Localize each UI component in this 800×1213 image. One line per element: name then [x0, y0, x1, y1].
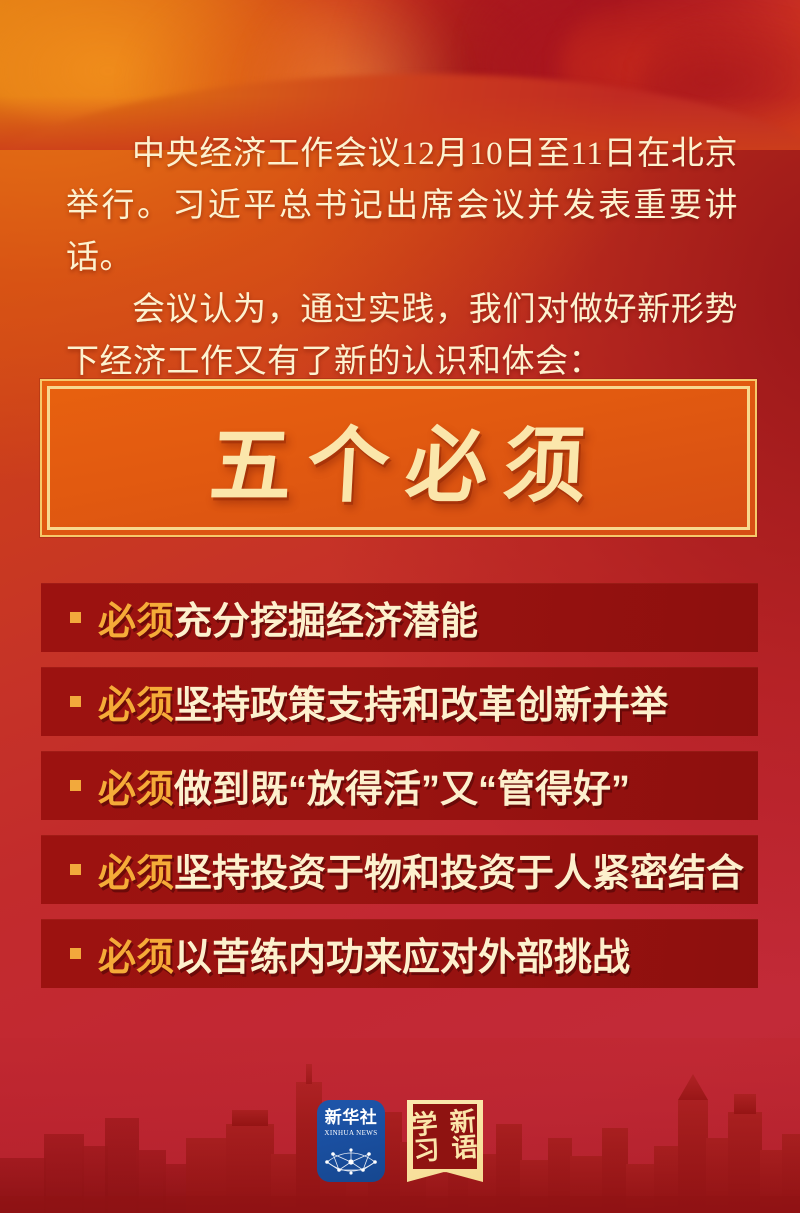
list-item-emphasis: 必须: [98, 601, 174, 643]
list-item-text: 必须充分挖掘经济潜能: [98, 590, 478, 645]
list-item[interactable]: 必须坚持投资于物和投资于人紧密结合: [41, 835, 758, 904]
poster-root: 中央经济工作会议12月10日至11日在北京举行。习近平总书记出席会议并发表重要讲…: [0, 0, 800, 1213]
xuexi-logo-label: 学习 新语: [404, 1097, 486, 1184]
xinhua-logo-en-label: XINHUA NEWS: [324, 1129, 377, 1137]
list-item-rest: 充分挖掘经济潜能: [174, 601, 478, 643]
square-bullet-icon: [70, 948, 81, 959]
list-item[interactable]: 必须做到既“放得活”又“管得好”: [41, 751, 758, 820]
list-item-rest: 坚持政策支持和改革创新并举: [174, 685, 668, 727]
title-plaque-inner-border: 五个必须: [47, 386, 750, 530]
list-item-text: 必须做到既“放得活”又“管得好”: [98, 758, 630, 813]
network-globe-icon: [323, 1146, 379, 1176]
square-bullet-icon: [70, 612, 81, 623]
list-item-emphasis: 必须: [98, 853, 174, 895]
xuexi-logo-line-1: 学习: [405, 1111, 447, 1166]
list-item-text: 必须以苦练内功来应对外部挑战: [98, 926, 630, 981]
intro-paragraph-1: 中央经济工作会议12月10日至11日在北京举行。习近平总书记出席会议并发表重要讲…: [66, 128, 738, 284]
list-item-emphasis: 必须: [98, 769, 174, 811]
xuexi-logo-line-2: 新语: [443, 1108, 485, 1163]
requirements-list: 必须充分挖掘经济潜能 必须坚持政策支持和改革创新并举 必须做到既“放得活”又“管…: [41, 583, 758, 988]
xinhua-logo-cn-label: 新华社: [325, 1108, 378, 1127]
list-item-rest: 以苦练内功来应对外部挑战: [174, 937, 630, 979]
square-bullet-icon: [70, 696, 81, 707]
square-bullet-icon: [70, 864, 81, 875]
list-item-text: 必须坚持投资于物和投资于人紧密结合: [98, 842, 744, 897]
title-plaque: 五个必须: [40, 379, 757, 537]
list-item[interactable]: 必须充分挖掘经济潜能: [41, 583, 758, 652]
list-item-rest: 做到既“放得活”又“管得好”: [174, 769, 630, 811]
intro-paragraph-2: 会议认为，通过实践，我们对做好新形势下经济工作又有了新的认识和体会：: [66, 284, 738, 388]
list-item-emphasis: 必须: [98, 685, 174, 727]
page-title: 五个必须: [191, 399, 605, 518]
footer-logos: 新华社 XINHUA NEWS: [0, 1100, 800, 1182]
list-item[interactable]: 必须以苦练内功来应对外部挑战: [41, 919, 758, 988]
list-item[interactable]: 必须坚持政策支持和改革创新并举: [41, 667, 758, 736]
xuexi-xinyu-logo[interactable]: 学习 新语: [407, 1100, 483, 1182]
xinhua-news-logo[interactable]: 新华社 XINHUA NEWS: [317, 1100, 385, 1182]
list-item-text: 必须坚持政策支持和改革创新并举: [98, 674, 668, 729]
list-item-emphasis: 必须: [98, 937, 174, 979]
list-item-rest: 坚持投资于物和投资于人紧密结合: [174, 853, 744, 895]
square-bullet-icon: [70, 780, 81, 791]
intro-text-block: 中央经济工作会议12月10日至11日在北京举行。习近平总书记出席会议并发表重要讲…: [66, 128, 738, 388]
